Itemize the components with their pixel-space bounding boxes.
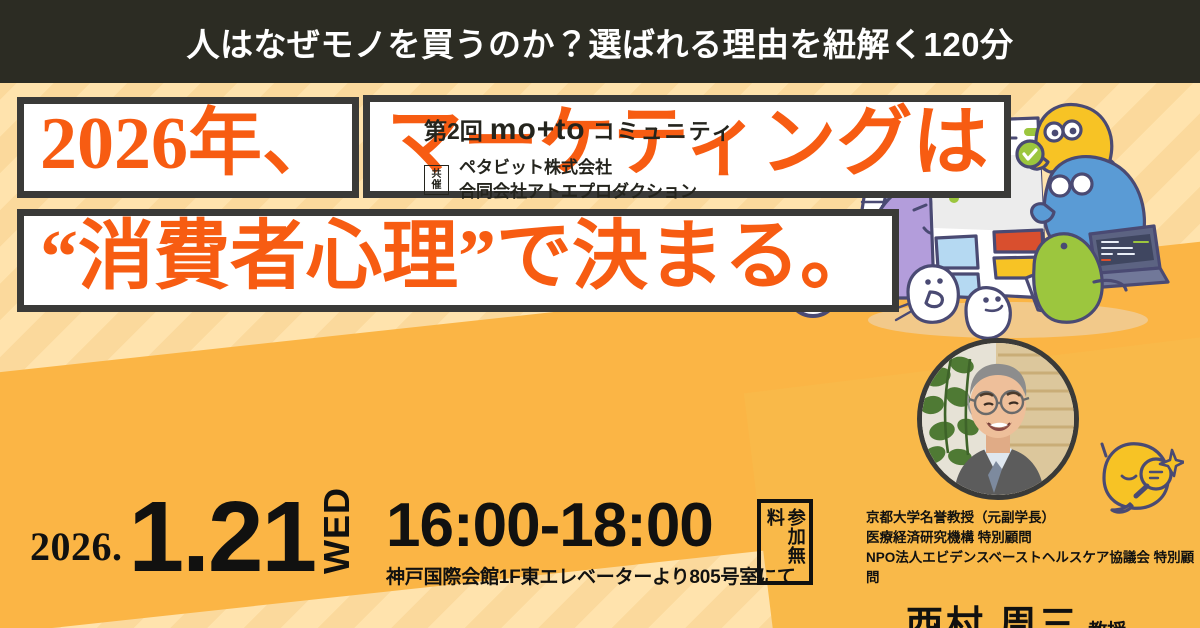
organizer-row: 共催 ペタビット株式会社 合同会社アトエプロダクション	[424, 156, 735, 204]
event-weekday: WED	[319, 487, 355, 574]
moto-logo: mo+to	[490, 113, 586, 147]
organizer-list: ペタビット株式会社 合同会社アトエプロダクション	[459, 156, 697, 204]
cohost-badge: 共催	[424, 165, 449, 195]
tagline-text: 人はなぜモノを買うのか？選ばれる理由を紐解く120分	[186, 18, 1013, 66]
speaker-name-row: 西村 周三 教授	[866, 594, 1200, 628]
event-time: 16:00-18:00	[386, 495, 796, 557]
edition-label: 第2回	[424, 112, 483, 146]
speaker-credential-1: 京都大学名誉教授（元副学長）	[866, 508, 1200, 528]
event-venue: 神戸国際会館1F東エレベーターより805号室にて	[386, 562, 796, 589]
speaker-portrait	[917, 338, 1079, 500]
headline-line-1: 2026年、	[40, 106, 336, 183]
top-tagline-bar: 人はなぜモノを買うのか？選ばれる理由を紐解く120分	[0, 0, 1200, 83]
headline-box-1: 2026年、	[17, 97, 359, 198]
speaker-block: 京都大学名誉教授（元副学長） 医療経済研究機構 特別顧問 NPO法人エビデンスベ…	[866, 508, 1200, 628]
speaker-credential-3: NPO法人エビデンスベーストヘルスケア協議会 特別顧問	[866, 548, 1200, 588]
community-label: コミュニティ	[593, 114, 736, 146]
headline-line-3: “消費者心理”で決まる。	[40, 218, 876, 297]
speaker-credential-2: 医療経済研究機構 特別顧問	[866, 528, 1200, 548]
event-banner: 人はなぜモノを買うのか？選ばれる理由を紐解く120分	[0, 0, 1200, 628]
headline-box-3: “消費者心理”で決まる。	[17, 209, 899, 312]
speaker-title: 教授	[1088, 616, 1126, 628]
event-time-block: 16:00-18:00 神戸国際会館1F東エレベーターより805号室にて	[386, 495, 796, 589]
event-title-line: 第2回 mo+to コミュニティ	[424, 112, 735, 147]
organizer-1: ペタビット株式会社	[459, 156, 697, 180]
speaker-name: 西村 周三	[906, 594, 1079, 628]
free-admission-badge: 参加無料	[757, 499, 813, 585]
organizer-2: 合同会社アトエプロダクション	[459, 180, 697, 204]
event-meta-block: 第2回 mo+to コミュニティ 共催 ペタビット株式会社 合同会社アトエプロダ…	[424, 112, 735, 204]
event-year: 2026.	[30, 523, 123, 570]
event-date-row: 2026. 1.21 WED	[30, 487, 355, 580]
event-day: 1.21	[129, 494, 316, 580]
